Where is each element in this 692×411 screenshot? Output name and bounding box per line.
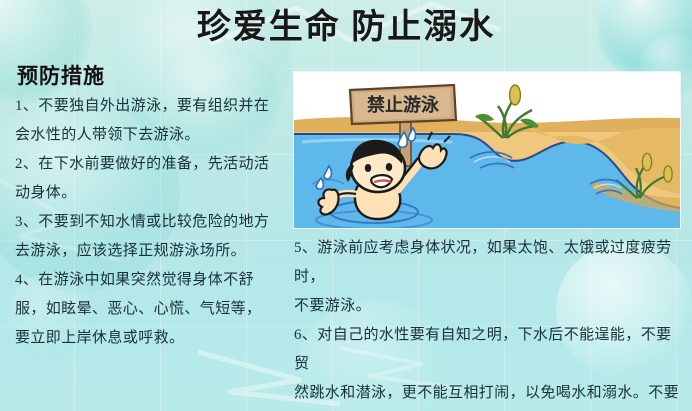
list-line: 动身体。 bbox=[15, 179, 287, 208]
page-title: 珍爱生命 防止溺水 bbox=[0, 6, 692, 50]
list-line: 6、对自己的水性要有自知之明，下水后不能逞能，不要贸 bbox=[294, 321, 686, 379]
list-line: 1、不要独自外出游泳，要有组织并在 bbox=[15, 92, 287, 121]
prevention-list-right: 5、游泳前应考虑身体状况，如果太饱、太饿或过度疲劳时， 不要游泳。 6、对自己的… bbox=[294, 234, 686, 411]
list-line: 去游泳，应该选择正规游泳场所。 bbox=[15, 237, 287, 266]
slide-canvas: 珍爱生命 防止溺水 预防措施 禁止游泳 bbox=[0, 0, 692, 411]
list-line: 服，如眩晕、恶心、心慌、气短等， bbox=[15, 295, 287, 324]
list-line: 2、在下水前要做好的准备，先活动活 bbox=[15, 150, 287, 179]
list-line: 要立即上岸休息或呼救。 bbox=[15, 324, 287, 353]
list-line: 会水性的人带领下去游泳。 bbox=[15, 121, 287, 150]
list-line: 不要游泳。 bbox=[294, 292, 686, 321]
illustration-sign-text: 禁止游泳 bbox=[367, 94, 440, 115]
prevention-list-left: 1、不要独自外出游泳，要有组织并在 会水性的人带领下去游泳。 2、在下水前要做好… bbox=[15, 92, 287, 353]
list-line: 然跳水和潜泳，更不能互相打闹，以免喝水和溺水。不要 bbox=[294, 379, 686, 408]
list-line: 5、游泳前应考虑身体状况，如果太饱、太饿或过度疲劳时， bbox=[294, 234, 686, 292]
illustration-drowning-scene: 禁止游泳 bbox=[294, 72, 680, 228]
list-line: 4、在游泳中如果突然觉得身体不舒 bbox=[15, 266, 287, 295]
section-heading: 预防措施 bbox=[17, 60, 105, 90]
list-line: 3、不要到不知水情或比较危险的地方 bbox=[15, 208, 287, 237]
